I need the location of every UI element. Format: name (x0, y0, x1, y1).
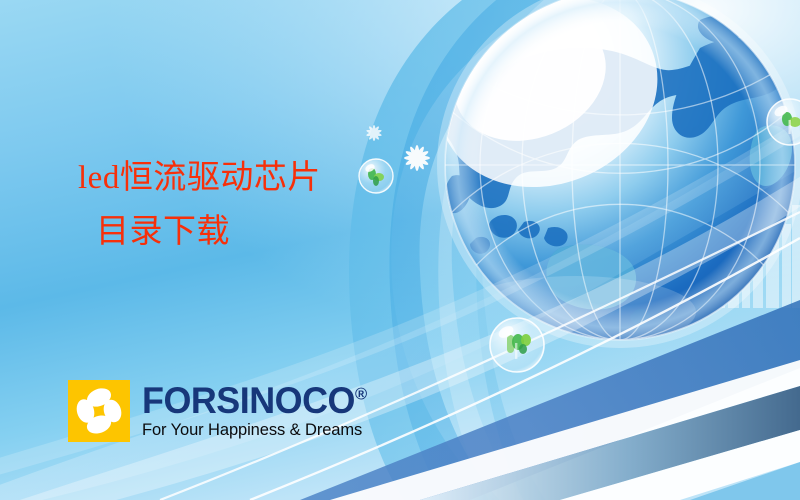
logo-wordmark: FORSINOCO® (142, 383, 367, 418)
logo-tagline: For Your Happiness & Dreams (142, 421, 374, 439)
logo-wordmark-text: FORSINOCO (142, 380, 355, 421)
headline-line-2: 目录下载 (96, 216, 478, 249)
headline-line-1: led恒流驱动芯片 (78, 162, 478, 195)
banner-image: led恒流驱动芯片 目录下载 FORSINOCO® For Your Hap (0, 0, 800, 500)
registered-trademark-icon: ® (355, 385, 367, 404)
bubble-leaves-large (490, 318, 544, 372)
logo-pinwheel-icon (68, 380, 130, 442)
headline-text-block: led恒流驱动芯片 目录下载 (78, 162, 478, 249)
company-logo[interactable]: FORSINOCO® For Your Happiness & Dreams (68, 380, 374, 442)
logo-text-block: FORSINOCO® For Your Happiness & Dreams (142, 383, 374, 439)
